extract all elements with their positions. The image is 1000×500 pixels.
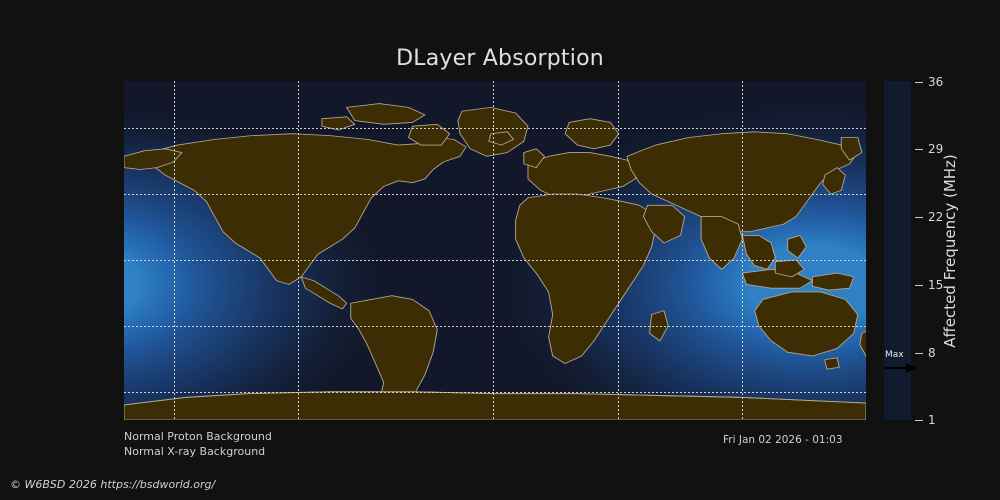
page-title: DLayer Absorption <box>0 46 1000 71</box>
landmass-tasmania <box>825 358 839 369</box>
colorbar-label-1: 1 <box>928 413 936 427</box>
colorbar-tick-8 <box>915 353 923 354</box>
colorbar-tick-29 <box>915 149 923 150</box>
colorbar-label-8: 8 <box>928 346 936 360</box>
copyright-notice: © W6BSD 2026 https://bsdworld.org/ <box>10 478 215 491</box>
xray-background-status: Normal X-ray Background <box>124 445 265 458</box>
world-map-panel[interactable] <box>124 81 866 420</box>
world-map-svg <box>124 81 866 420</box>
colorbar-axis-label: Affected Frequency (MHz) <box>940 81 960 420</box>
timestamp: Fri Jan 02 2026 - 01:03 <box>723 434 843 446</box>
colorbar-axis-label-text: Affected Frequency (MHz) <box>941 154 959 348</box>
colorbar-tick-36 <box>915 82 923 83</box>
colorbar[interactable]: 36 29 22 15 8 1 <box>884 81 911 420</box>
colorbar-tick-1 <box>915 420 923 421</box>
landmass-new-guinea <box>812 273 853 290</box>
colorbar-tick-15 <box>915 285 923 286</box>
colorbar-tick-22 <box>915 217 923 218</box>
proton-background-status: Normal Proton Background <box>124 430 272 443</box>
colorbar-gradient <box>884 81 911 420</box>
